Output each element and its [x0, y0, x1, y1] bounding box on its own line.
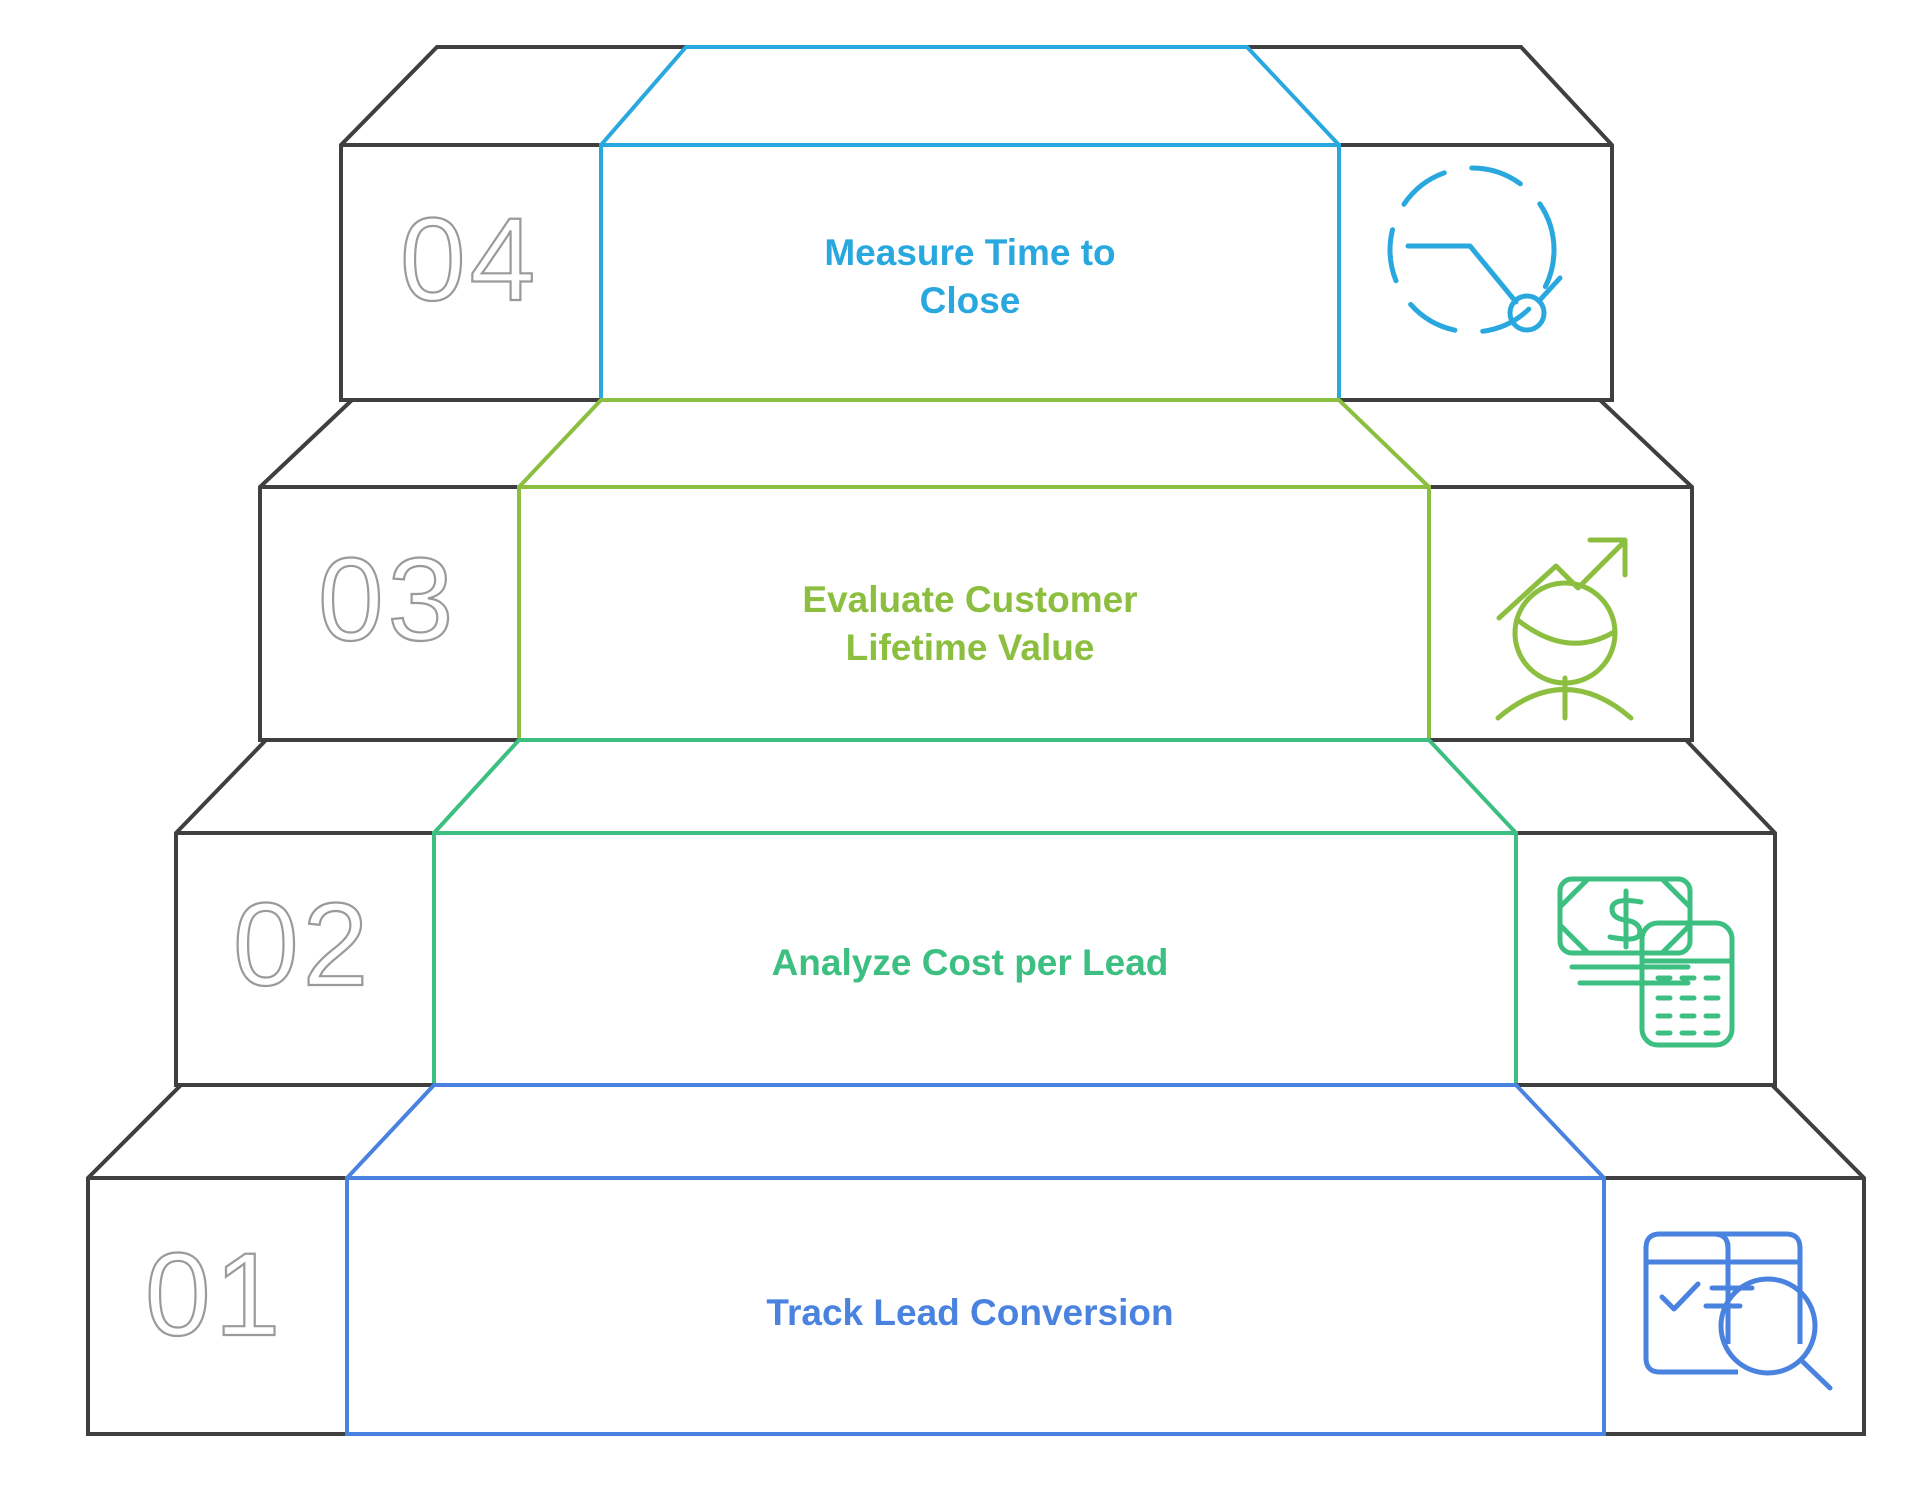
stairs-diagram: 04 03 02 01 Measure Time to Close Evalua… — [0, 0, 1929, 1488]
step-02-outer-outline — [176, 740, 1775, 1085]
dashed-clock-icon — [1390, 168, 1560, 332]
step-04-title-line2: Close — [920, 280, 1021, 321]
step-04-accent-top-face — [601, 47, 1339, 145]
step-03-title-line2: Lifetime Value — [846, 627, 1095, 668]
infographic-canvas: 04 03 02 01 Measure Time to Close Evalua… — [0, 0, 1929, 1488]
step-02-number: 02 — [233, 879, 372, 1011]
person-head — [1515, 583, 1615, 683]
clock-hands — [1408, 246, 1516, 302]
step-01-title-line1: Track Lead Conversion — [766, 1292, 1173, 1333]
magnifier-handle — [1802, 1361, 1830, 1388]
step-03-title-line1: Evaluate Customer — [802, 579, 1137, 620]
step-02-accent-top-face — [434, 740, 1516, 833]
window-search-checklist-icon — [1646, 1234, 1830, 1388]
step-03-group[interactable] — [260, 400, 1692, 740]
step-01-accent-top-face — [347, 1085, 1604, 1178]
step-04-title-line1: Measure Time to — [824, 232, 1115, 273]
person-face-arc — [1519, 621, 1614, 643]
money-calculator-icon — [1560, 879, 1732, 1045]
step-01-number: 01 — [145, 1229, 284, 1361]
calculator-keys — [1658, 978, 1718, 1033]
checkmark-icon — [1662, 1284, 1698, 1309]
step-02-group[interactable] — [176, 740, 1775, 1085]
person-growth-arrow-icon — [1498, 540, 1631, 718]
step-02-title-line1: Analyze Cost per Lead — [772, 942, 1169, 983]
step-04-number: 04 — [400, 194, 539, 326]
growth-arrow-line — [1499, 543, 1623, 618]
step-01-group[interactable] — [88, 1085, 1864, 1434]
step-01-outer-outline — [88, 1085, 1864, 1434]
step-03-outer-outline — [260, 400, 1692, 740]
step-03-accent-top-face — [519, 400, 1429, 487]
money-stack-lines — [1572, 967, 1688, 983]
step-03-number: 03 — [318, 534, 457, 666]
